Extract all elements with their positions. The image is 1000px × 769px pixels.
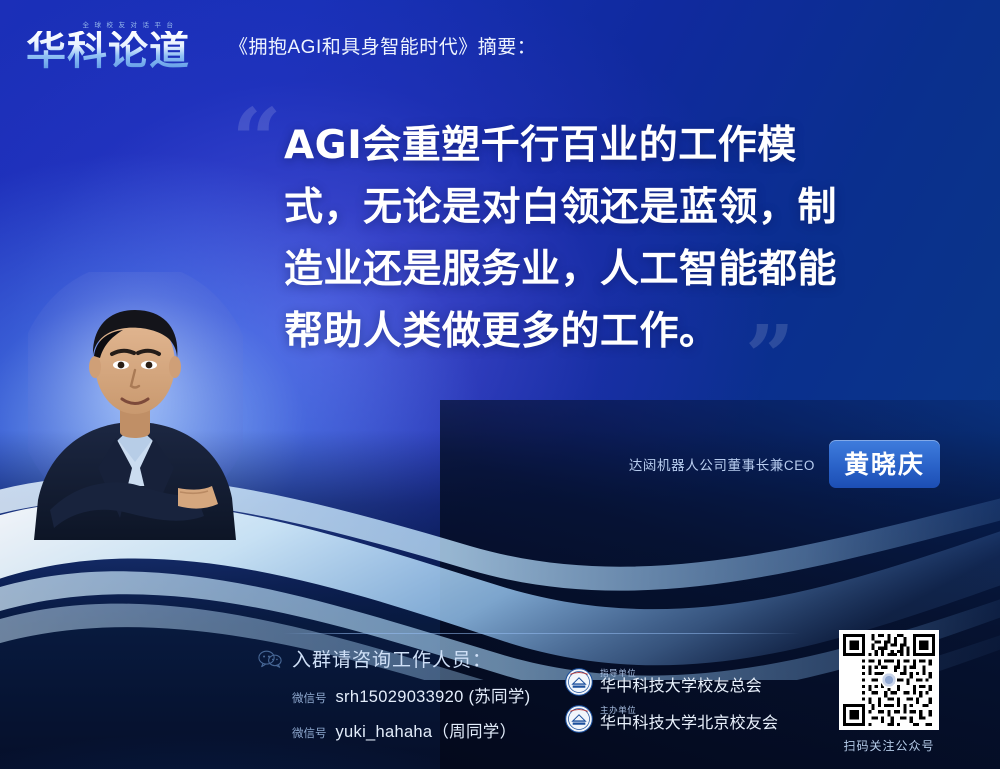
brand-logo-text: 华科论道 [26, 31, 211, 71]
speaker-portrait [28, 272, 243, 540]
org-row: 指导单位 华中科技大学校友总会 [565, 668, 778, 696]
org-kind: 主办单位 [600, 706, 778, 715]
organizations: 指导单位 华中科技大学校友总会 主办单位 华中科技大学北京校友会 [565, 668, 778, 742]
org-row: 主办单位 华中科技大学北京校友会 [565, 705, 778, 733]
quote-line: 造业还是服务业，人工智能都能 [284, 239, 934, 301]
speaker-role: 达闼机器人公司董事长兼CEO [629, 454, 815, 474]
wechat-id[interactable]: yuki_hahaha（周同学） [336, 718, 517, 742]
org-kind: 指导单位 [600, 669, 762, 678]
attribution: 达闼机器人公司董事长兼CEO 黄晓庆 [560, 440, 940, 488]
university-seal-icon [565, 705, 593, 733]
speaker-name-badge: 黄晓庆 [829, 440, 940, 488]
brand-logo[interactable]: 全球校友对话平台 华科论道 [26, 19, 211, 71]
quote-line: AGI会重塑千行百业的工作模 [284, 115, 934, 177]
qr-block: 扫码关注公众号 [834, 630, 944, 754]
quote-text: AGI会重塑千行百业的工作模 式，无论是对白领还是蓝领，制 造业还是服务业，人工… [284, 115, 934, 363]
quote-line: 式，无论是对白领还是蓝领，制 [284, 177, 934, 239]
qr-code[interactable] [839, 630, 939, 730]
quote-line: 帮助人类做更多的工作。 [284, 301, 934, 363]
wechat-id[interactable]: srh15029033920 (苏同学) [336, 683, 531, 707]
quote-close-mark: ” [745, 315, 794, 401]
qr-caption: 扫码关注公众号 [834, 737, 944, 754]
poster-canvas: 全球校友对话平台 华科论道 《拥抱AGI和具身智能时代》摘要： [0, 0, 1000, 769]
wechat-label: 微信号 [292, 725, 327, 741]
university-seal-icon [565, 668, 593, 696]
org-text: 指导单位 华中科技大学校友总会 [600, 669, 762, 696]
wechat-label: 微信号 [292, 690, 327, 706]
wechat-icon [258, 650, 282, 668]
brand-tagline: 全球校友对话平台 [50, 19, 211, 29]
footer-divider [283, 633, 800, 634]
org-name: 华中科技大学校友总会 [600, 678, 762, 695]
org-text: 主办单位 华中科技大学北京校友会 [600, 706, 778, 733]
header-bar: 全球校友对话平台 华科论道 《拥抱AGI和具身智能时代》摘要： [0, 0, 1000, 90]
quote-open-mark: “ [232, 98, 281, 184]
contact-title: 入群请咨询工作人员： [292, 645, 492, 672]
org-name: 华中科技大学北京校友会 [600, 715, 778, 732]
page-title: 《拥抱AGI和具身智能时代》摘要： [229, 32, 536, 59]
